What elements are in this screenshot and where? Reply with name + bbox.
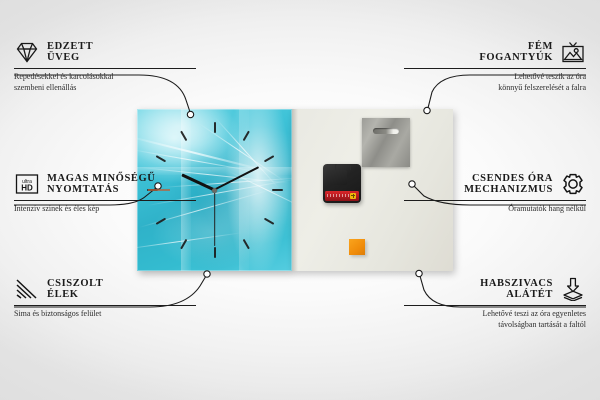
clock-tick [263, 155, 274, 162]
hanger-keyhole-slot [373, 128, 399, 134]
feature-divider [404, 305, 586, 306]
feature-title: EDZETT ÜVEG [47, 41, 93, 64]
feature-divider [14, 305, 196, 306]
clock-tick [214, 122, 216, 133]
clock-mechanism [323, 164, 361, 203]
infographic-stage: EDZETT ÜVEG Repedésekkel és karcolásokka… [0, 0, 600, 400]
feature-description: Intenzív színek és éles kép [14, 204, 196, 215]
feature-title-line-1: HABSZIVACS [480, 278, 553, 289]
feature-habszivacs-alatet: HABSZIVACS ALÁTÉT Lehetővé teszi az óra … [404, 277, 586, 331]
feature-header: HABSZIVACS ALÁTÉT [404, 277, 586, 301]
feature-title-line-1: EDZETT [47, 41, 93, 52]
feature-edzett-uveg: EDZETT ÜVEG Repedésekkel és karcolásokka… [14, 40, 196, 94]
feature-title-line-2: ÜVEG [47, 52, 93, 63]
battery-label [327, 194, 349, 197]
leader-dot-csiszolt-elek [204, 271, 210, 277]
clock-tick [242, 131, 249, 142]
clock-tick [263, 218, 274, 225]
feature-title-line-1: CSENDES ÓRA [464, 173, 553, 184]
panel-side-edge [292, 109, 298, 271]
foam-pad-icon [560, 277, 586, 301]
feature-divider [14, 68, 196, 69]
feature-title: MAGAS MINŐSÉGŰ NYOMTATÁS [47, 173, 155, 196]
clock-tick [155, 155, 166, 162]
feature-divider [404, 68, 586, 69]
ultra-hd-icon: ultra HD [14, 172, 40, 196]
feature-title: FÉM FOGANTYÚK [479, 41, 553, 64]
leader-dot-habszivacs-alatet [416, 270, 422, 276]
feature-title-line-2: MECHANIZMUS [464, 184, 553, 195]
feature-divider [404, 200, 586, 201]
feature-title: HABSZIVACS ALÁTÉT [480, 278, 553, 301]
feature-title-line-1: FÉM [479, 41, 553, 52]
feature-header: FÉM FOGANTYÚK [404, 40, 586, 64]
feature-csiszolt-elek: CSISZOLT ÉLEK Sima és biztonságos felüle… [14, 277, 196, 320]
feature-header: EDZETT ÜVEG [14, 40, 196, 64]
foam-pad [349, 239, 365, 255]
feature-divider [14, 200, 196, 201]
feature-magas-minosegu-nyomtatas: ultra HD MAGAS MINŐSÉGŰ NYOMTATÁS Intenz… [14, 172, 196, 215]
diamond-icon [14, 40, 40, 64]
picture-hanger-icon [560, 40, 586, 64]
clock-second-hand [214, 190, 215, 246]
clock-tick [180, 239, 187, 250]
battery-plus-terminal [350, 193, 356, 199]
feature-title-line-2: NYOMTATÁS [47, 184, 155, 195]
feature-description: Óramutatók hang nélkül [404, 204, 586, 215]
feature-title-line-2: ALÁTÉT [480, 289, 553, 300]
feature-description: Lehetővé teszi az óra egyenletes távolsá… [404, 309, 586, 331]
polished-edges-icon [14, 277, 40, 301]
feature-csendes-ora-mechanizmus: CSENDES ÓRA MECHANIZMUS Óramutatók hang … [404, 172, 586, 215]
feature-description: Lehetővé teszik az óra könnyű felszerelé… [404, 72, 586, 94]
svg-text:HD: HD [21, 184, 33, 193]
feature-description: Repedésekkel és karcolásokkal szembeni e… [14, 72, 196, 94]
feature-title: CSISZOLT ÉLEK [47, 278, 103, 301]
feature-title-line-2: ÉLEK [47, 289, 103, 300]
feature-header: ultra HD MAGAS MINŐSÉGŰ NYOMTATÁS [14, 172, 196, 196]
feature-description: Sima és biztonságos felület [14, 309, 196, 320]
clock-tick [180, 131, 187, 142]
clock-tick [214, 247, 216, 258]
clock-minute-hand [214, 166, 260, 191]
feature-title-line-1: MAGAS MINŐSÉGŰ [47, 173, 155, 184]
feature-title: CSENDES ÓRA MECHANIZMUS [464, 173, 553, 196]
metal-hanger [362, 118, 410, 167]
feature-fem-fogantyuk: FÉM FOGANTYÚK Lehetővé teszik az óra kön… [404, 40, 586, 94]
clock-tick [155, 218, 166, 225]
feature-header: CSISZOLT ÉLEK [14, 277, 196, 301]
clock-tick [272, 189, 283, 191]
battery [325, 191, 359, 201]
clock-tick [242, 239, 249, 250]
feature-header: CSENDES ÓRA MECHANIZMUS [404, 172, 586, 196]
clock-center-hub [212, 188, 217, 193]
feature-title-line-1: CSISZOLT [47, 278, 103, 289]
feature-title-line-2: FOGANTYÚK [479, 52, 553, 63]
gear-icon [560, 172, 586, 196]
mechanism-plate [326, 170, 347, 185]
